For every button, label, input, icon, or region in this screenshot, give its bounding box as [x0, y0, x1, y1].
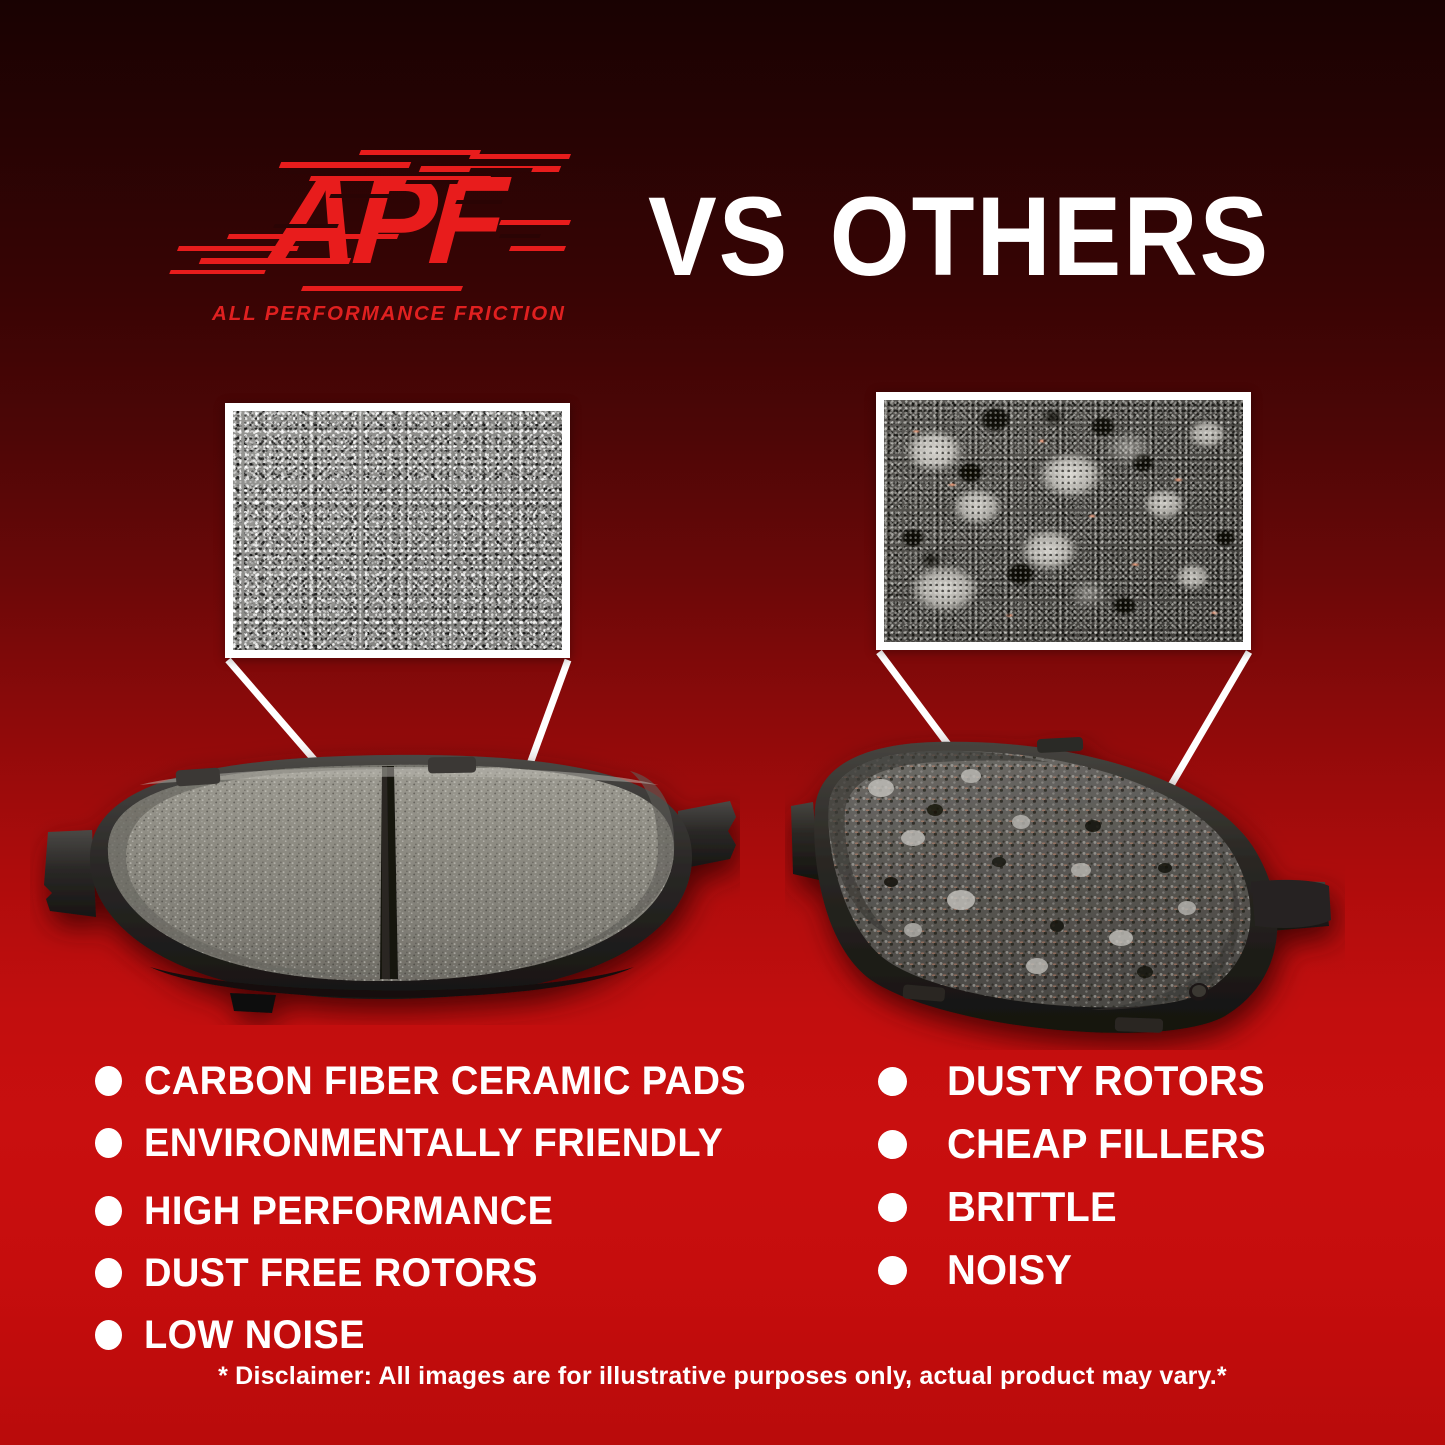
bullet-dot-icon [95, 1320, 122, 1350]
apf-brake-pad-photo [30, 735, 740, 1025]
list-item-label: CARBON FIBER CERAMIC PADS [144, 1059, 746, 1104]
apf-logo-mark: APF [170, 150, 570, 300]
swatch-image-area [233, 411, 562, 650]
logo-slash-icon [405, 180, 459, 184]
logo-slash-icon [455, 200, 503, 204]
bullet-dot-icon [95, 1066, 122, 1096]
bullet-dot-icon [878, 1067, 907, 1096]
logo-slash-icon [273, 224, 339, 228]
bullet-dot-icon [878, 1256, 907, 1285]
speed-streak-icon [499, 220, 571, 225]
infographic-canvas: APF ALL PERFORMANCE FRICTION VSOTHERS [0, 0, 1445, 1445]
list-item: DUST FREE ROTORS [95, 1244, 825, 1302]
others-pad-illustration [785, 730, 1345, 1050]
list-item-label: ENVIRONMENTALLY FRIENDLY [144, 1121, 723, 1166]
coarse-filler-texture [884, 400, 1243, 642]
apf-pad-illustration [30, 735, 740, 1025]
list-item-label: NOISY [947, 1246, 1072, 1294]
bullet-dot-icon [878, 1193, 907, 1222]
header: APF ALL PERFORMANCE FRICTION VSOTHERS [0, 0, 1445, 360]
speed-streak-icon [509, 246, 566, 251]
list-item-label: HIGH PERFORMANCE [144, 1189, 553, 1234]
apf-wordmark: APF [266, 158, 504, 283]
title-others: OTHERS [830, 174, 1270, 299]
coarse-filler-texture-swatch [876, 392, 1251, 650]
list-item-label: BRITTLE [947, 1183, 1117, 1231]
page-title: VSOTHERS [648, 178, 1329, 298]
disclaimer-text: * Disclaimer: All images are for illustr… [0, 1362, 1445, 1391]
apf-feature-list: CARBON FIBER CERAMIC PADS ENVIRONMENTALL… [95, 1052, 825, 1368]
logo-slash-icon [469, 168, 533, 172]
list-item: ENVIRONMENTALLY FRIENDLY [95, 1114, 825, 1172]
bullet-dot-icon [95, 1258, 122, 1288]
list-item: BRITTLE [878, 1178, 1358, 1236]
list-item-label: LOW NOISE [144, 1313, 365, 1358]
list-item: LOW NOISE [95, 1306, 825, 1364]
logo-slash-icon [329, 194, 391, 198]
bullet-dot-icon [95, 1128, 122, 1158]
list-item-label: CHEAP FILLERS [947, 1120, 1266, 1168]
list-item-label: DUSTY ROTORS [947, 1057, 1265, 1105]
title-vs: VS [648, 174, 789, 299]
list-item: CARBON FIBER CERAMIC PADS [95, 1052, 825, 1110]
list-item: NOISY [878, 1241, 1358, 1299]
others-feature-list: DUSTY ROTORS CHEAP FILLERS BRITTLE NOISY [878, 1052, 1358, 1304]
logo-slash-icon [365, 158, 437, 162]
logo-slash-icon [287, 170, 367, 174]
bullet-dot-icon [95, 1196, 122, 1226]
list-item: CHEAP FILLERS [878, 1115, 1358, 1173]
apf-tagline: ALL PERFORMANCE FRICTION [212, 302, 566, 326]
swatch-image-area [884, 400, 1243, 642]
fine-ceramic-texture [233, 411, 562, 650]
list-item-label: DUST FREE ROTORS [144, 1251, 538, 1296]
list-item: DUSTY ROTORS [878, 1052, 1358, 1110]
list-item: HIGH PERFORMANCE [95, 1182, 825, 1240]
fine-ceramic-texture-swatch [225, 403, 570, 658]
apf-logo: APF ALL PERFORMANCE FRICTION [170, 150, 570, 340]
bullet-dot-icon [878, 1130, 907, 1159]
others-brake-pad-photo [785, 730, 1345, 1050]
speed-streak-icon [169, 270, 266, 274]
logo-slash-icon [499, 234, 541, 238]
